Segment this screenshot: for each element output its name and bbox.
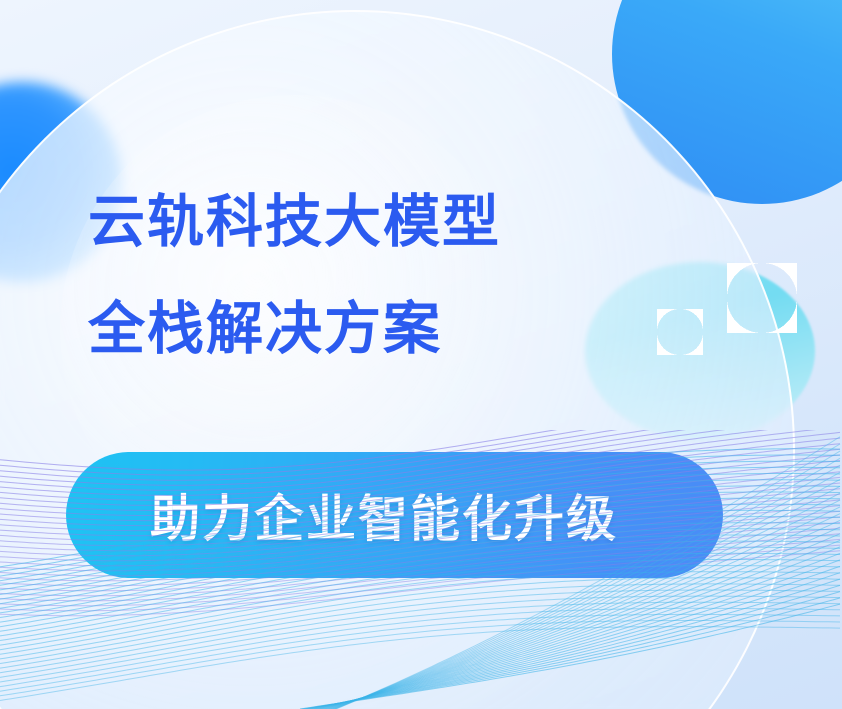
tagline-badge: 助力企业智能化升级 — [66, 452, 723, 578]
cyan-ellipse-decoration — [585, 262, 815, 440]
headline-line-1: 云轨科技大模型 — [88, 189, 501, 255]
sparkle-large-icon — [727, 263, 797, 333]
marketing-poster: 云轨科技大模型 全栈解决方案 助力企业智能化升级 — [0, 0, 842, 709]
cyan-circle-decoration — [612, 0, 842, 204]
headline-line-2: 全栈解决方案 — [88, 296, 501, 362]
tagline-badge-label: 助力企业智能化升级 — [150, 479, 618, 551]
page-title: 云轨科技大模型 全栈解决方案 — [88, 189, 501, 362]
sparkle-small-icon — [657, 309, 703, 355]
